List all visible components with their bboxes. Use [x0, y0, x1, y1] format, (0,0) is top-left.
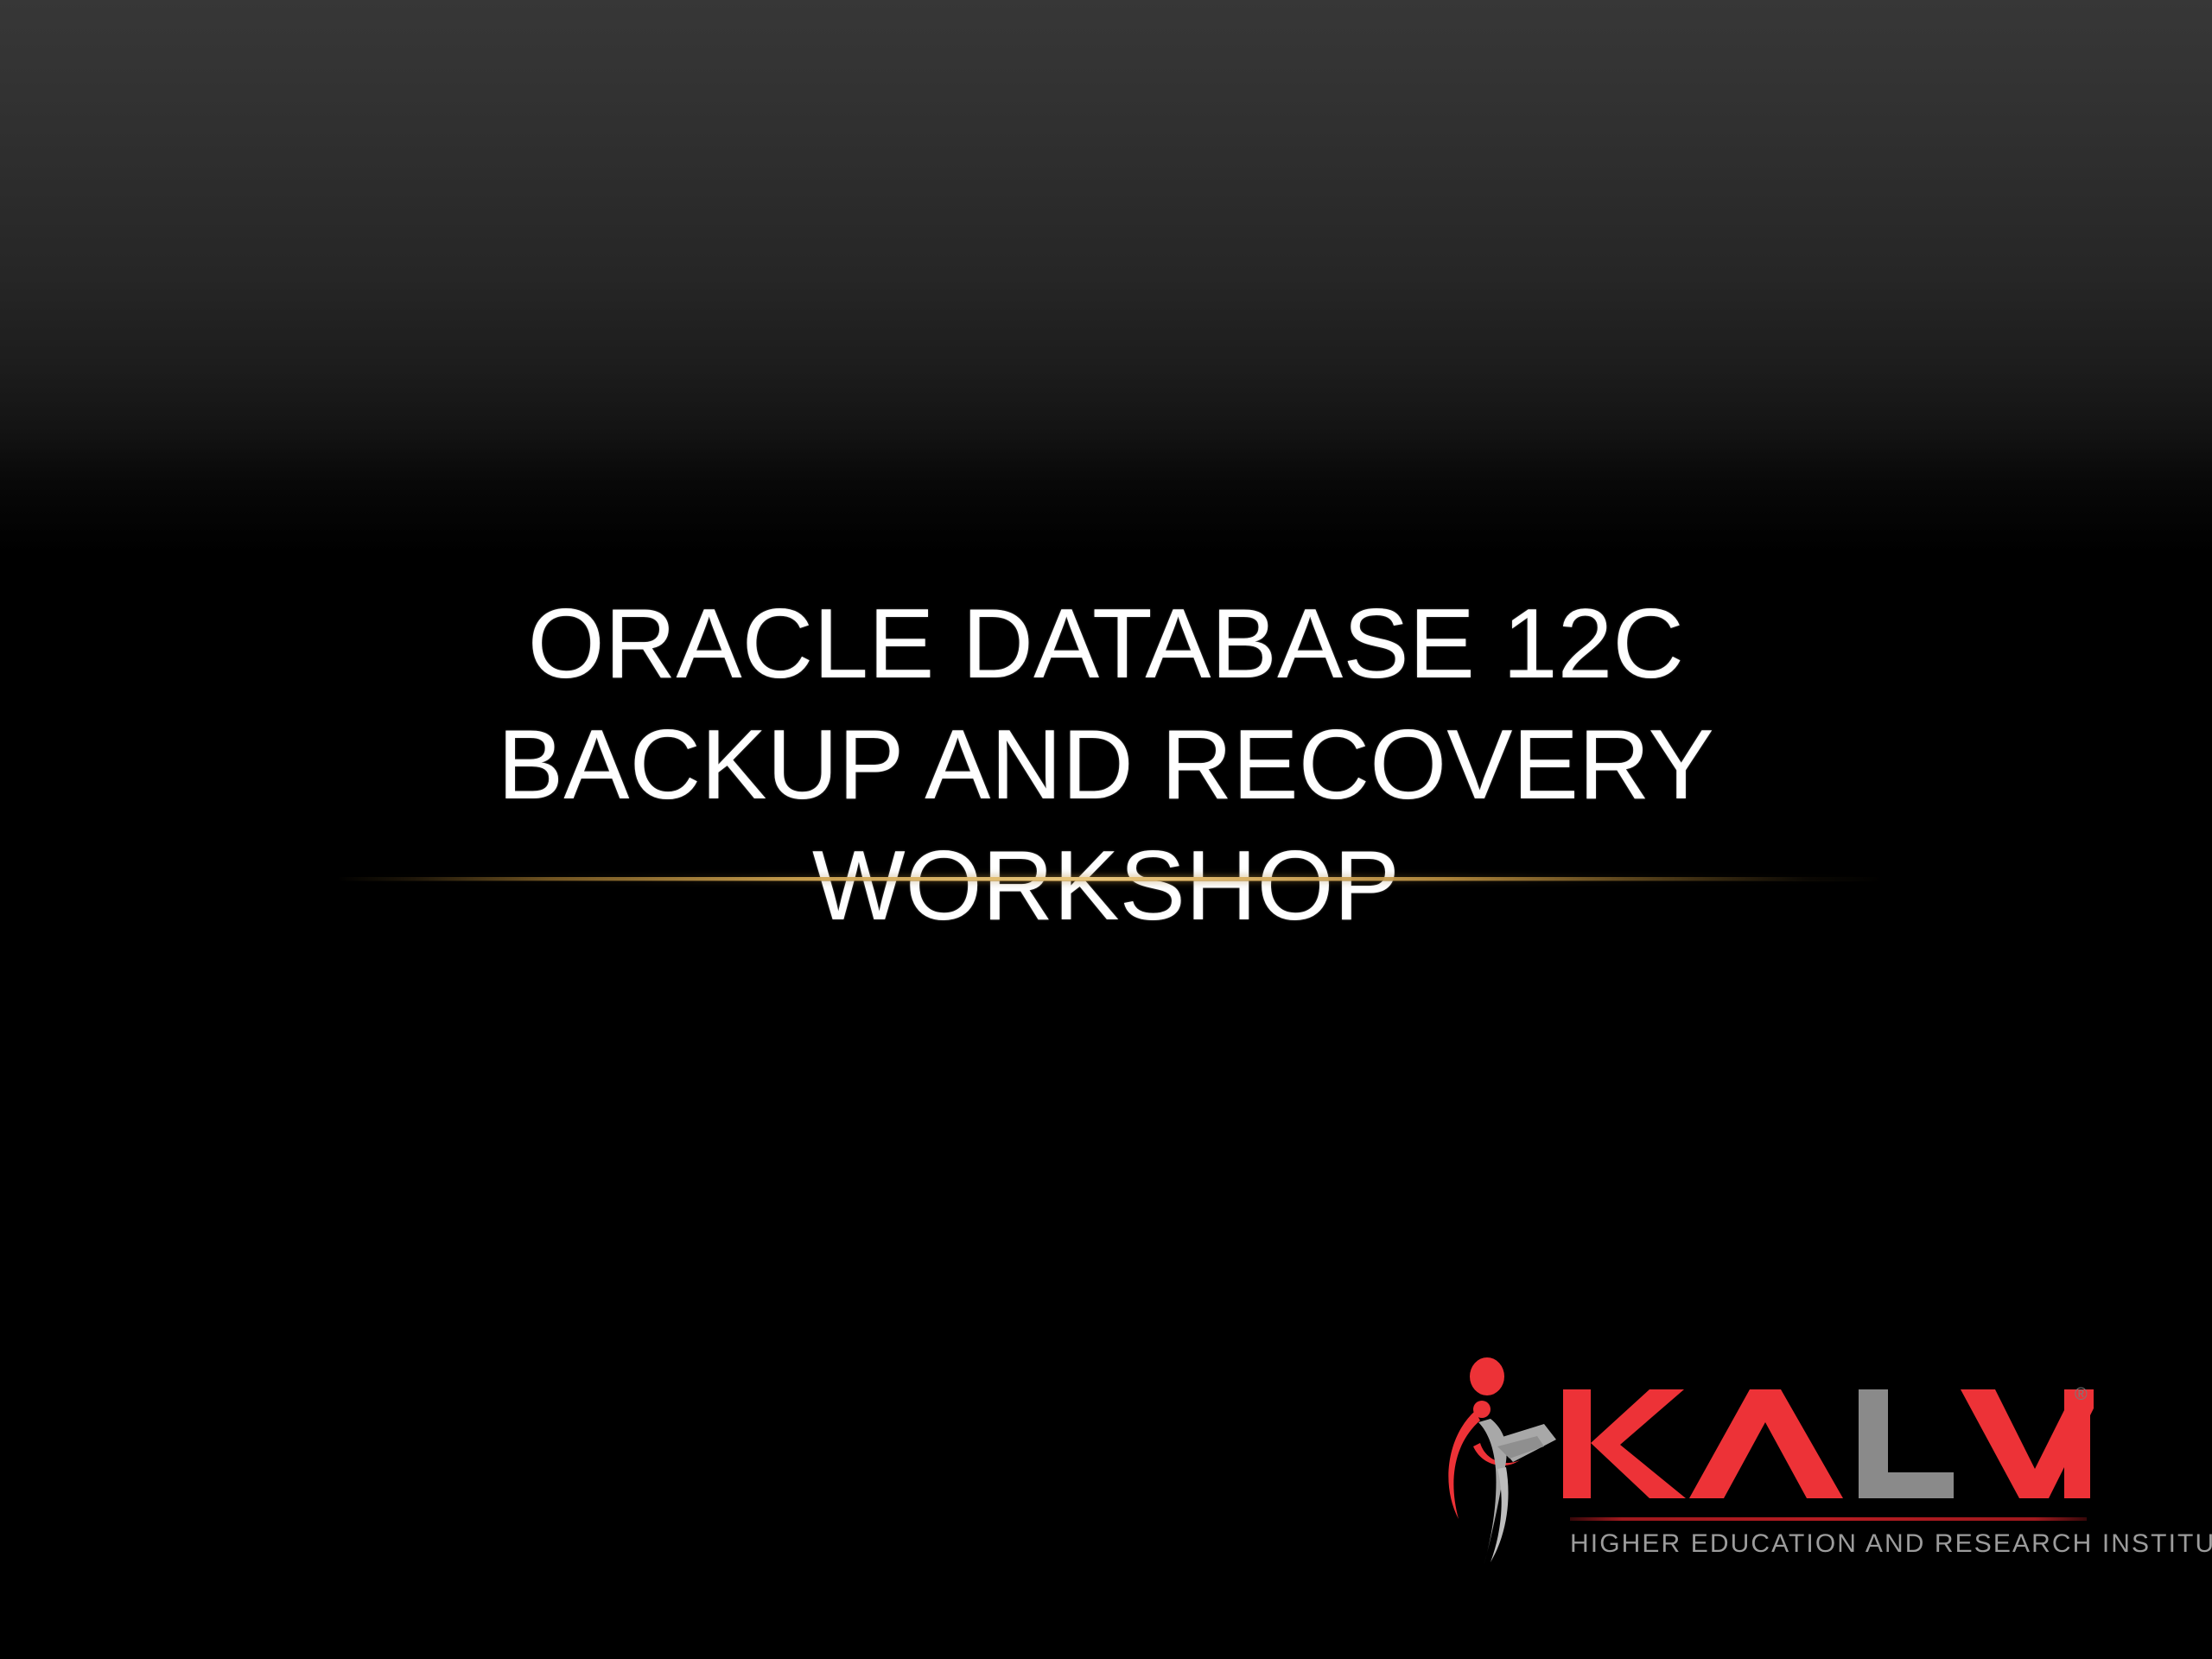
kalvi-logo: ® Higher Education and Research Institut…	[1430, 1357, 2113, 1599]
title-block: Oracle Database 12c Backup and Recovery …	[337, 584, 1875, 947]
kalvi-lettering: ®	[1558, 1389, 2094, 1498]
kalvi-letter-l	[1859, 1389, 1954, 1498]
kalvi-letter-a	[1689, 1389, 1843, 1498]
kalvi-tagline: Higher Education and Research Institute	[1570, 1529, 2094, 1559]
kalvi-letter-k	[1563, 1389, 1686, 1498]
title-divider	[337, 869, 1884, 888]
divider-hairline	[337, 880, 1884, 881]
slide-title: Oracle Database 12c Backup and Recovery …	[337, 584, 1875, 947]
kalvi-letter-i	[2064, 1389, 2090, 1498]
kalvi-figure-icon	[1430, 1357, 1560, 1590]
registered-trademark-icon: ®	[2075, 1386, 2088, 1403]
presentation-slide: Oracle Database 12c Backup and Recovery …	[0, 0, 2212, 1659]
kalvi-underline-rule	[1570, 1517, 2087, 1521]
kalvi-wordmark: ® Higher Education and Research Institut…	[1558, 1389, 2113, 1588]
